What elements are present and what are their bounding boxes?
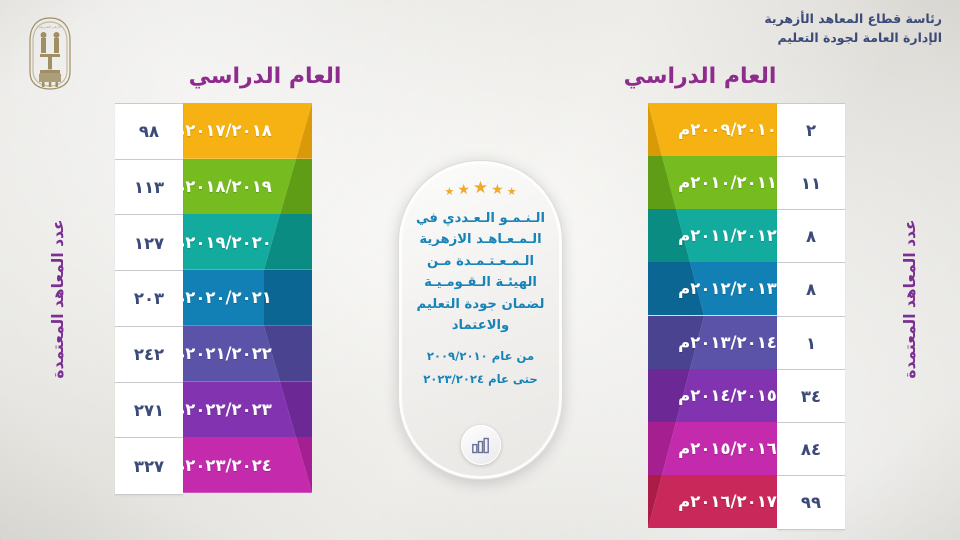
left-column-header: العام الدراسي bbox=[145, 64, 385, 89]
bar-chart-icon bbox=[461, 425, 501, 465]
funnel-row-count: ١٢٧ bbox=[115, 214, 183, 272]
funnel-row-count: ٩٨ bbox=[115, 103, 183, 161]
funnel-row-count: ٢٠٣ bbox=[115, 270, 183, 328]
funnel-row-count: ٣٤ bbox=[777, 369, 845, 424]
center-subtitle-from: من عام ٢٠٠٩/٢٠١٠ bbox=[411, 346, 550, 366]
left-side-axis-label: عدد المعاهد المعتمدة bbox=[49, 189, 67, 409]
funnel-row-count: ٢٧١ bbox=[115, 382, 183, 440]
center-subtitle-to: حتى عام ٢٠٢٣/٢٠٢٤ bbox=[411, 369, 550, 389]
center-title-capsule: ★★★★★ الـنـمـو الـعـددي في الـمـعـاهـد ا… bbox=[398, 160, 563, 480]
al-azhar-emblem-icon: الأزهـر الشـريف bbox=[22, 14, 78, 92]
funnel-row-count: ٣٢٧ bbox=[115, 437, 183, 495]
funnel-row-count: ١١٣ bbox=[115, 159, 183, 217]
svg-text:الأزهـر الشـريف: الأزهـر الشـريف bbox=[39, 24, 62, 29]
funnel-row-count: ١ bbox=[777, 316, 845, 371]
header-line-1: رئاسة قطاع المعاهد الأزهرية bbox=[764, 9, 942, 28]
right-side-axis-label: عدد المعاهد المعتمدة bbox=[901, 189, 919, 409]
funnel-row-count: ٢٤٢ bbox=[115, 326, 183, 384]
center-title: الـنـمـو الـعـددي في الـمـعـاهـد الازهري… bbox=[411, 208, 550, 336]
funnel-row-count: ٨٤ bbox=[777, 422, 845, 477]
funnel-row-count: ٨ bbox=[777, 209, 845, 264]
funnel-row-count: ١١ bbox=[777, 156, 845, 211]
five-stars-icon: ★★★★★ bbox=[444, 177, 516, 197]
right-column-header: العام الدراسي bbox=[580, 64, 820, 89]
right-count-column: ٢١١٨٨١٣٤٨٤٩٩ bbox=[777, 103, 845, 528]
funnel-row-count: ٨ bbox=[777, 262, 845, 317]
header-line-2: الإدارة العامة لجودة التعليم bbox=[764, 28, 942, 47]
left-count-column: ٩٨١١٣١٢٧٢٠٣٢٤٢٢٧١٣٢٧ bbox=[115, 103, 183, 493]
infographic-canvas: الأزهـر الشـريف رئاسة قطاع المعاهد الأزه… bbox=[0, 0, 960, 540]
header-org-text: رئاسة قطاع المعاهد الأزهرية الإدارة العا… bbox=[764, 9, 942, 48]
funnel-row-count: ٩٩ bbox=[777, 475, 845, 530]
funnel-row-count: ٢ bbox=[777, 103, 845, 158]
